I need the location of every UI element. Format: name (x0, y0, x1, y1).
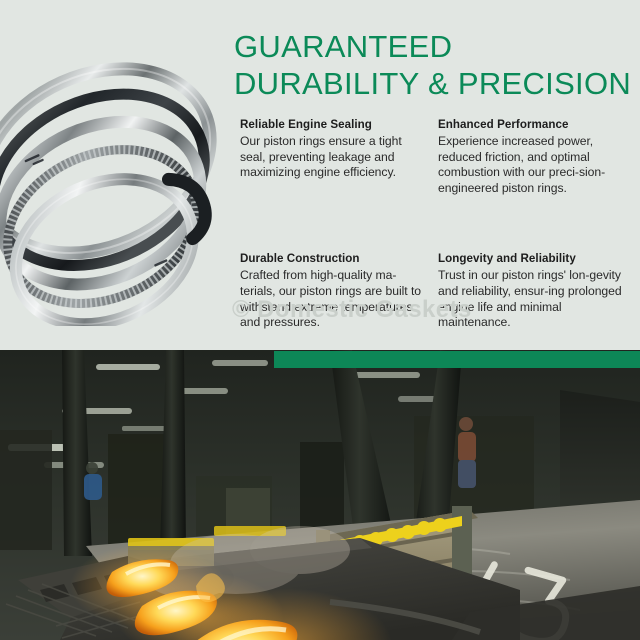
feature-row-top: Reliable Engine Sealing Our piston rings… (240, 118, 636, 196)
feature-title: Reliable Engine Sealing (240, 118, 424, 132)
feature-durable-construction: Durable Construction Crafted from high-q… (240, 252, 438, 330)
feature-title: Durable Construction (240, 252, 424, 266)
feature-reliable-engine-sealing: Reliable Engine Sealing Our piston rings… (240, 118, 438, 196)
feature-title: Longevity and Reliability (438, 252, 622, 266)
green-accent-band (274, 351, 640, 368)
feature-body: Trust in our piston rings' lon-gevity an… (438, 268, 622, 330)
headline-line-2: DURABILITY & PRECISION (234, 65, 634, 102)
headline-line-1: GUARANTEED (234, 28, 634, 65)
feature-body: Our piston rings ensure a tight seal, pr… (240, 134, 424, 181)
factory-forging-photo (0, 350, 640, 640)
piston-rings-photo (0, 6, 230, 326)
top-section: GUARANTEED DURABILITY & PRECISION Reliab… (0, 0, 640, 350)
feature-row-bottom: Durable Construction Crafted from high-q… (240, 252, 636, 330)
feature-body: Experience increased power, reduced fric… (438, 134, 622, 196)
feature-enhanced-performance: Enhanced Performance Experience increase… (438, 118, 636, 196)
feature-body: Crafted from high-quality ma-terials, ou… (240, 268, 424, 330)
feature-grid: Reliable Engine Sealing Our piston rings… (240, 118, 636, 331)
page-title: GUARANTEED DURABILITY & PRECISION (234, 28, 634, 102)
feature-title: Enhanced Performance (438, 118, 622, 132)
feature-longevity-and-reliability: Longevity and Reliability Trust in our p… (438, 252, 636, 330)
poster-root: GUARANTEED DURABILITY & PRECISION Reliab… (0, 0, 640, 640)
